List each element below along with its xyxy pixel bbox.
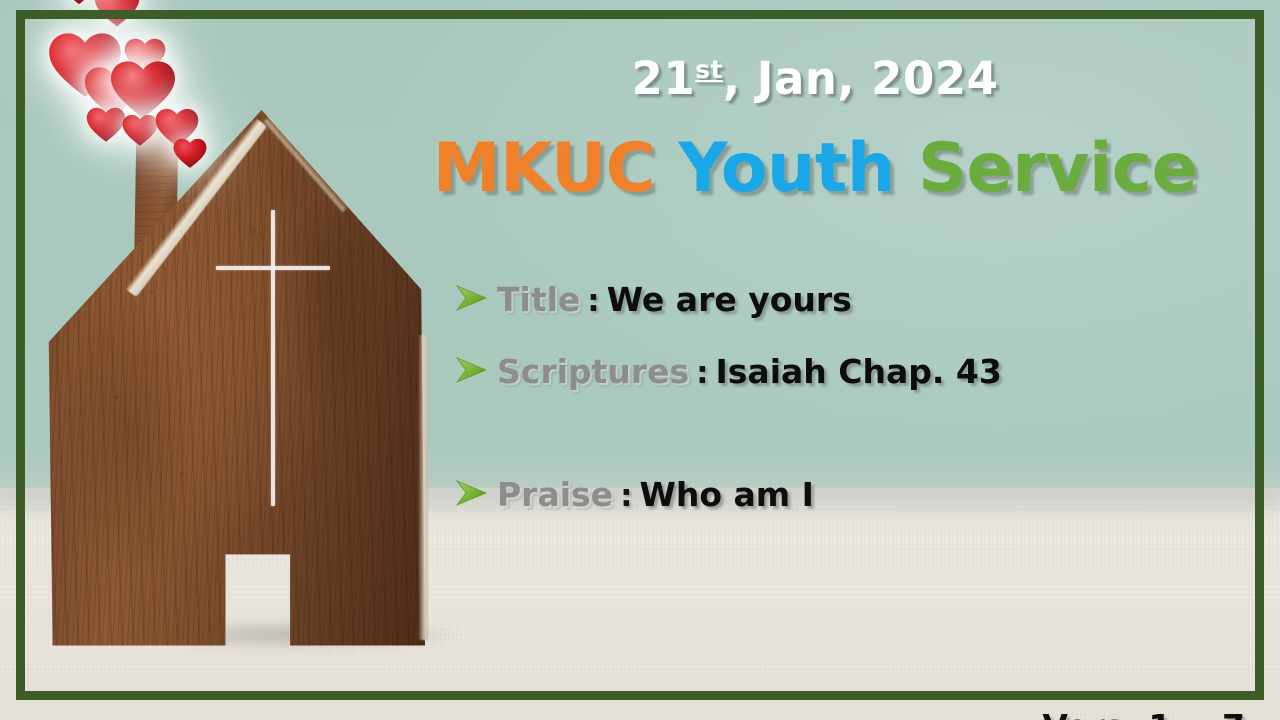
list-item-value: Isaiah Chap. 43 (716, 352, 1002, 391)
presentation-slide: 21st, Jan, 2024 MKUC Youth Service Title… (0, 0, 1280, 720)
heart-icon (94, 0, 140, 28)
date-ordinal-suffix: st (695, 55, 723, 84)
service-details-list: Title : We are yours Scriptures : Isaiah… (455, 280, 1235, 514)
green-arrow-icon (455, 283, 489, 313)
list-item-separator: : (580, 283, 606, 319)
list-item-label: Scriptures (497, 352, 689, 391)
christian-cross-crossbar (216, 266, 330, 270)
list-item-value: We are yours (607, 280, 852, 319)
list-item-separator: : (689, 355, 715, 391)
list-item-value: Who am I (639, 475, 813, 514)
floating-hearts-group (0, 0, 330, 200)
title-part-service: Service (918, 129, 1197, 208)
date-day: 21 (632, 52, 696, 105)
christian-cross-icon (271, 210, 275, 506)
green-arrow-icon (455, 355, 489, 385)
slide-text-column: 21st, Jan, 2024 MKUC Youth Service Title… (400, 0, 1280, 720)
list-item-label: Praise (497, 475, 613, 514)
date-rest: , Jan, 2024 (723, 52, 998, 105)
verse-reference: Vers. 1 ~ 7 (455, 707, 1245, 720)
heart-icon (64, 0, 94, 5)
list-item: Scriptures : Isaiah Chap. 43 (455, 352, 1235, 391)
heart-icon (173, 138, 207, 169)
list-item-separator: : (613, 478, 639, 514)
heart-icon (122, 114, 158, 147)
title-part-mkuc: MKUC (433, 129, 655, 208)
green-arrow-icon (455, 478, 489, 508)
list-item-label: Title (497, 280, 580, 319)
title-part-youth: Youth (678, 129, 895, 208)
service-date: 21st, Jan, 2024 (400, 52, 1230, 105)
list-item: Title : We are yours (455, 280, 1235, 319)
page-title: MKUC Youth Service (400, 132, 1230, 205)
list-item: Praise : Who am I (455, 475, 1235, 514)
heart-icon (86, 107, 126, 143)
